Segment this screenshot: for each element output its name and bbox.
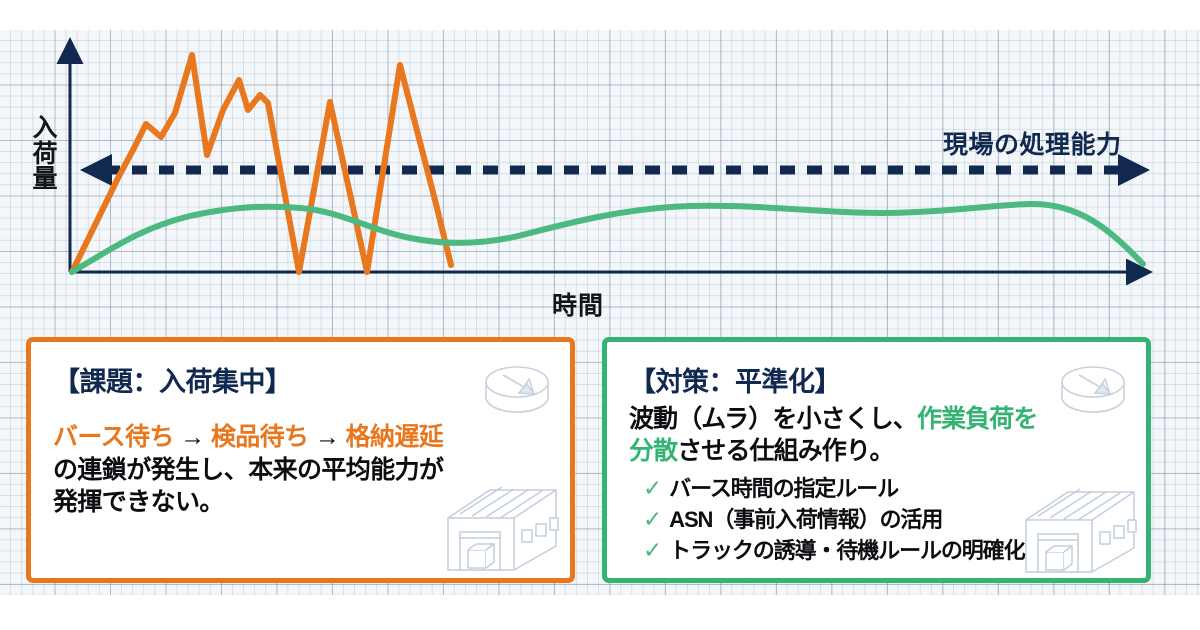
solution-body-highlight-1: 作業負荷を [917,405,1038,433]
inbound-volume-chart [0,0,1200,330]
x-axis-label: 時間 [552,286,604,322]
problem-card-content: 【課題：入荷集中】 バース待ち → 検品待ち → 格納遅延 の連鎖が発生し、本来… [31,342,570,578]
list-item-label: ASN（事前入荷情報）の活用 [669,504,942,535]
check-icon: ✓ [643,539,661,562]
problem-card-title: 【課題：入荷集中】 [53,360,550,399]
list-item: ✓ トラックの誘導・待機ルールの明確化 [643,535,1126,566]
solution-body-highlight-2: 分散 [629,437,677,465]
problem-card-body: バース待ち → 検品待ち → 格納遅延 の連鎖が発生し、本来の平均能力が 発揮で… [53,421,550,519]
capacity-threshold-label: 現場の処理能力 [943,125,1122,161]
solution-body-pre: 波動（ムラ）を小さくし、 [629,405,917,433]
list-item-label: トラックの誘導・待機ルールの明確化 [669,535,1024,566]
list-item-label: バース時間の指定ルール [669,473,898,504]
solution-measures-list: ✓ バース時間の指定ルール ✓ ASN（事前入荷情報）の活用 ✓ トラックの誘導… [629,473,1126,567]
list-item: ✓ バース時間の指定ルール [643,473,1126,504]
y-axis-label-char-3: 量 [28,167,62,193]
problem-chain-line: バース待ち → 検品待ち → 格納遅延 [53,421,550,454]
problem-body-line-2: の連鎖が発生し、本来の平均能力が [53,454,550,487]
list-item: ✓ ASN（事前入荷情報）の活用 [643,504,1126,535]
problem-body-line-3: 発揮できない。 [53,486,550,519]
series-leveled-volume [72,204,1143,272]
chain-term-2: 検品待ち [211,423,309,451]
solution-card: 【対策：平準化】 波動（ムラ）を小さくし、作業負荷を分散させる仕組み作り。 ✓ … [602,337,1151,583]
problem-card: 【課題：入荷集中】 バース待ち → 検品待ち → 格納遅延 の連鎖が発生し、本来… [26,337,575,583]
solution-body-post: させる仕組み作り。 [677,437,893,465]
solution-card-title: 【対策：平準化】 [629,360,1126,399]
check-icon: ✓ [643,477,661,500]
y-axis-label-char-1: 入 [28,116,62,142]
check-icon: ✓ [643,508,661,531]
solution-card-content: 【対策：平準化】 波動（ムラ）を小さくし、作業負荷を分散させる仕組み作り。 ✓ … [607,342,1146,578]
y-axis-label-char-2: 荷 [28,142,62,168]
infographic-root: 入 荷 量 時間 現場の処理能力 [0,0,1200,630]
y-axis-label: 入 荷 量 [28,116,62,193]
chain-term-3: 格納遅延 [346,423,444,451]
chain-arrow-1: → [174,423,211,451]
solution-card-body: 波動（ムラ）を小さくし、作業負荷を分散させる仕組み作り。 [629,403,1126,467]
chain-arrow-2: → [308,423,345,451]
chain-term-1: バース待ち [53,423,174,451]
